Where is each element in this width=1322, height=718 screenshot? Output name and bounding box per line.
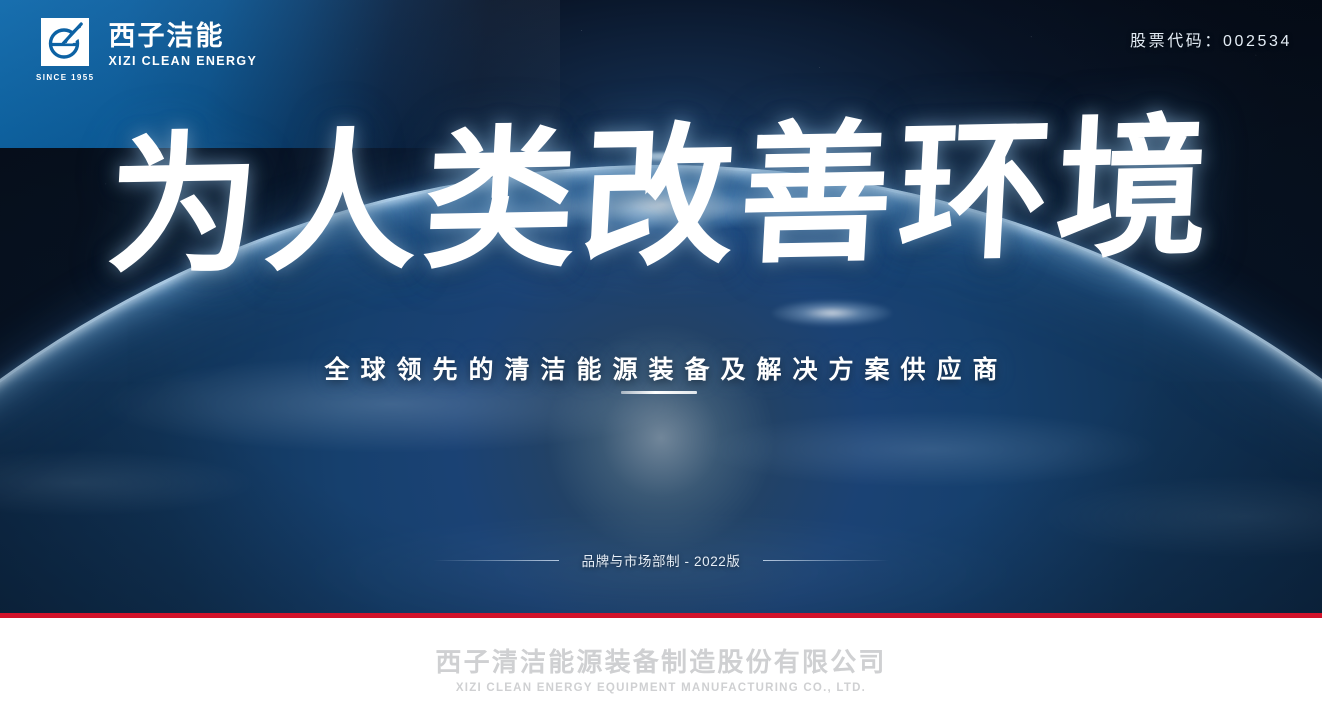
lens-flare-icon [772, 300, 892, 326]
hero-background: SINCE 1955 西子洁能 XIZI CLEAN ENERGY 股票代码：0… [0, 0, 1322, 613]
sun-core-icon [638, 152, 684, 161]
edition-label: 品牌与市场部制 - 2022版 [581, 550, 740, 570]
subtitle-divider [621, 391, 697, 394]
sunrise-glow-icon [383, 98, 943, 288]
logo-since-label: SINCE 1955 [36, 73, 94, 82]
footer: 西子清洁能源装备制造股份有限公司 XIZI CLEAN ENERGY EQUIP… [0, 618, 1322, 718]
footer-company-cn: 西子清洁能源装备制造股份有限公司 [435, 642, 886, 679]
logo-text-column: 西子洁能 XIZI CLEAN ENERGY [108, 18, 257, 68]
page-subtitle: 全球领先的清洁能源装备及解决方案供应商 [0, 350, 1322, 386]
edition-caption: 品牌与市场部制 - 2022版 [0, 550, 1322, 570]
logo-name-cn: 西子洁能 [108, 22, 257, 51]
xizi-e-monogram-icon [41, 18, 89, 66]
edition-divider-right [763, 560, 889, 561]
logo-mark-column: SINCE 1955 [36, 18, 94, 82]
logo-name-en: XIZI CLEAN ENERGY [108, 54, 257, 68]
brand-logo[interactable]: SINCE 1955 西子洁能 XIZI CLEAN ENERGY [36, 18, 257, 82]
starfield-icon [0, 0, 1322, 613]
footer-company-en: XIZI CLEAN ENERGY EQUIPMENT MANUFACTURIN… [456, 682, 866, 694]
vignette-overlay [0, 0, 1322, 613]
stock-code-label: 股票代码：002534 [1130, 27, 1292, 51]
earth-atmosphere-rim [0, 165, 1322, 613]
cover-slide: SINCE 1955 西子洁能 XIZI CLEAN ENERGY 股票代码：0… [0, 0, 1322, 718]
page-title: 为人类改善环境 [0, 110, 1322, 285]
edition-divider-left [433, 560, 559, 561]
